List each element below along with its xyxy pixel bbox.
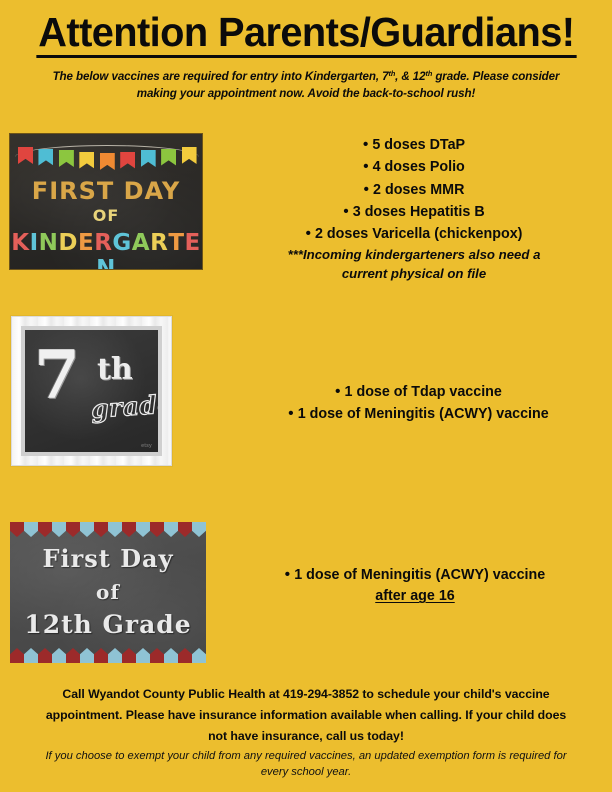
pennant-icon [52, 648, 66, 663]
kindergarten-image-line-3: KINDERGARTEN [10, 230, 202, 270]
kindergarten-notes: ***Incoming kindergarteners also need ac… [218, 245, 610, 283]
seventh-grade-chalkboard: 7 th grade etsy [21, 326, 162, 456]
bullet-dot-icon: • [363, 136, 372, 153]
pennant-icon [38, 648, 52, 663]
bunting-flag-icon [100, 153, 115, 170]
kindergarten-bullet-label: 2 doses MMR [373, 182, 464, 198]
bunting-flag-icon [141, 150, 156, 167]
pennant-icon [24, 648, 38, 663]
kindergarten-letter: N [96, 256, 116, 270]
twelfth-grade-image-line-2: of [10, 580, 206, 604]
pennant-icon [94, 648, 108, 663]
bullet-dot-icon: • [364, 181, 373, 198]
kindergarten-letter: R [94, 230, 112, 256]
bullet-dot-icon: • [335, 383, 344, 400]
pennant-icon [164, 522, 178, 537]
bunting-flag-icon [59, 150, 74, 167]
pennant-icon [108, 522, 122, 537]
pennant-icon [136, 648, 150, 663]
pennant-icon [178, 648, 192, 663]
seventh-grade-word: grade [90, 389, 162, 424]
pennant-icon [66, 522, 80, 537]
kindergarten-letter: G [112, 230, 131, 256]
footer-contact-text: Call Wyandot County Public Health at 419… [40, 684, 572, 747]
bunting-flag-icon [120, 152, 135, 169]
twelfth-grade-image: First Day of 12th Grade [10, 522, 206, 663]
seventh-grade-requirements-list: • 1 dose of Tdap vaccine• 1 dose of Meni… [225, 381, 612, 426]
twelfth-grade-age-note: after age 16 [218, 586, 612, 607]
kindergarten-letter: E [78, 230, 94, 256]
kindergarten-bullet-label: 2 doses Varicella (chickenpox) [315, 226, 522, 242]
pennant-band-bottom [10, 648, 206, 663]
seventh-grade-number: 7 [34, 342, 80, 408]
pennant-icon [80, 522, 94, 537]
bunting-flag-icon [18, 147, 33, 164]
seventh-grade-watermark: etsy [141, 443, 152, 449]
twelfth-grade-bullet-label: 1 dose of Meningitis (ACWY) vaccine [294, 567, 545, 583]
after-age-16-text: after age 16 [375, 588, 454, 604]
seventh-grade-bullet-1: • 1 dose of Tdap vaccine [225, 381, 612, 403]
bunting-flag-icon [161, 149, 176, 166]
kindergarten-bullet-label: 4 doses Polio [373, 159, 465, 175]
seventh-grade-bullets: • 1 dose of Tdap vaccine• 1 dose of Meni… [225, 381, 612, 426]
vaccine-requirements-flyer: Attention Parents/Guardians! The below v… [0, 0, 612, 792]
kindergarten-letter: D [58, 230, 78, 256]
subtitle-part-3: grade. Please consider [432, 70, 559, 83]
twelfth-grade-bullet-1: • 1 dose of Meningitis (ACWY) vaccine [218, 564, 612, 586]
kindergarten-letter: A [132, 230, 150, 256]
kindergarten-letter: N [39, 230, 59, 256]
kindergarten-image-line-2: OF [10, 206, 202, 225]
seventh-grade-ordinal: th [97, 352, 133, 387]
kindergarten-image-line-1: FIRST DAY [10, 177, 202, 205]
first-day-of-kindergarten-image: FIRST DAY OF KINDERGARTEN [9, 133, 203, 270]
bullet-dot-icon: • [363, 158, 372, 175]
kindergarten-letter: R [150, 230, 168, 256]
footer-exemption-text: If you choose to exempt your child from … [34, 748, 578, 780]
kindergarten-letter: E [185, 230, 201, 256]
twelfth-grade-requirements-list: • 1 dose of Meningitis (ACWY) vaccine af… [218, 564, 612, 608]
bullet-dot-icon: • [288, 405, 297, 422]
kindergarten-bullet-5: • 2 doses Varicella (chickenpox) [218, 223, 610, 245]
page-title: Attention Parents/Guardians! [36, 10, 576, 58]
pennant-icon [136, 522, 150, 537]
pennant-icon [122, 522, 136, 537]
seventh-grade-image: 7 th grade etsy [11, 316, 172, 466]
kindergarten-requirements-list: • 5 doses DTaP• 4 doses Polio• 2 doses M… [218, 134, 610, 283]
kindergarten-note-2: current physical on file [218, 264, 610, 283]
pennant-icon [94, 522, 108, 537]
pennant-icon [192, 522, 206, 537]
kindergarten-bullet-2: • 4 doses Polio [218, 156, 610, 178]
kindergarten-bullet-4: • 3 doses Hepatitis B [218, 201, 610, 223]
subtitle-line-2: making your appointment now. Avoid the b… [137, 87, 476, 100]
kindergarten-bullet-3: • 2 doses MMR [218, 179, 610, 201]
seventh-grade-bullet-label: 1 dose of Meningitis (ACWY) vaccine [298, 406, 549, 422]
seventh-grade-bullet-label: 1 dose of Tdap vaccine [345, 384, 502, 400]
pennant-icon [24, 522, 38, 537]
pennant-icon [122, 648, 136, 663]
bullet-dot-icon: • [285, 566, 294, 583]
pennant-icon [150, 648, 164, 663]
twelfth-grade-image-line-1: First Day [10, 544, 206, 573]
page-title-container: Attention Parents/Guardians! [0, 10, 612, 58]
bunting-flag-icon [182, 147, 197, 164]
pennant-icon [66, 648, 80, 663]
pennant-icon [192, 648, 206, 663]
subtitle-part-1: The below vaccines are required for entr… [53, 70, 389, 83]
kindergarten-letter: K [11, 230, 29, 256]
bullet-dot-icon: • [306, 225, 315, 242]
twelfth-grade-bullets: • 1 dose of Meningitis (ACWY) vaccine [218, 564, 612, 586]
pennant-icon [178, 522, 192, 537]
pennant-band-top [10, 522, 206, 537]
pennant-icon [164, 648, 178, 663]
kindergarten-bullet-label: 3 doses Hepatitis B [353, 204, 485, 220]
bunting-flag-icon [79, 152, 94, 169]
kindergarten-bullets: • 5 doses DTaP• 4 doses Polio• 2 doses M… [218, 134, 610, 245]
bunting-flag-icon [38, 149, 53, 166]
pennant-icon [10, 522, 24, 537]
twelfth-grade-image-line-3: 12th Grade [10, 610, 206, 639]
kindergarten-letter: T [168, 230, 184, 256]
pennant-icon [52, 522, 66, 537]
bullet-dot-icon: • [343, 203, 352, 220]
pennant-icon [108, 648, 122, 663]
kindergarten-bullet-label: 5 doses DTaP [372, 137, 465, 153]
pennant-icon [10, 648, 24, 663]
seventh-grade-bullet-2: • 1 dose of Meningitis (ACWY) vaccine [225, 403, 612, 425]
pennant-icon [150, 522, 164, 537]
pennant-icon [80, 648, 94, 663]
pennant-icon [38, 522, 52, 537]
subtitle-part-2: , & 12 [395, 70, 425, 83]
bunting-flags-decoration [15, 142, 199, 168]
kindergarten-note-1: ***Incoming kindergarteners also need a [218, 245, 610, 264]
page-subtitle: The below vaccines are required for entr… [22, 68, 590, 102]
kindergarten-bullet-1: • 5 doses DTaP [218, 134, 610, 156]
kindergarten-letter: I [30, 230, 39, 256]
